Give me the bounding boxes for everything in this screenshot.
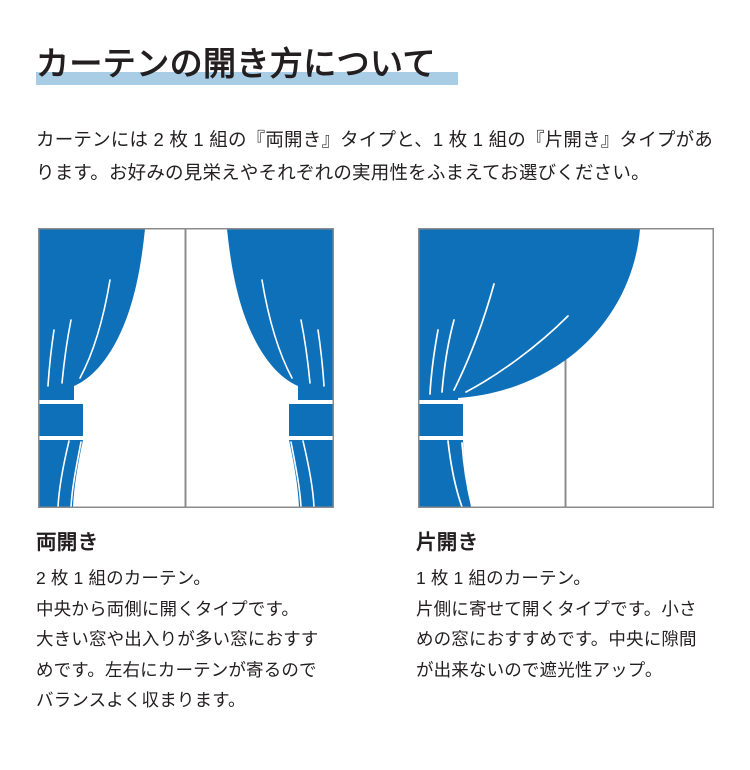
caption-line: 片側に寄せて開くタイプです。小さ xyxy=(416,594,736,625)
caption-line: が出来ないので遮光性アップ。 xyxy=(416,655,736,686)
curtain-opening-types-page: カーテンの開き方について カーテンには 2 枚 1 組の『両開き』タイプと、1 … xyxy=(0,0,750,770)
caption-heading-single-open: 片開き xyxy=(416,528,736,558)
caption-double-open: 両開き 2 枚 1 組のカーテン。 中央から両側に開くタイプです。 大きい窓や出… xyxy=(36,528,356,716)
single-open-curtain-diagram xyxy=(418,228,714,508)
caption-line: めです。左右にカーテンが寄るので xyxy=(36,655,356,686)
caption-line: めの窓におすすめです。中央に隙間 xyxy=(416,624,736,655)
caption-line: 2 枚 1 組のカーテン。 xyxy=(36,563,356,594)
figure-double-open xyxy=(38,228,334,508)
caption-single-open: 片開き 1 枚 1 組のカーテン。 片側に寄せて開くタイプです。小さ めの窓にお… xyxy=(416,528,736,685)
figure-single-open xyxy=(418,228,714,508)
double-open-curtain-diagram xyxy=(38,228,334,508)
intro-paragraph: カーテンには 2 枚 1 組の『両開き』タイプと、1 枚 1 組の『片開き』タイ… xyxy=(36,123,716,189)
caption-body-double-open: 2 枚 1 組のカーテン。 中央から両側に開くタイプです。 大きい窓や出入りが多… xyxy=(36,563,356,716)
caption-line: 中央から両側に開くタイプです。 xyxy=(36,594,356,625)
page-title-text: カーテンの開き方について xyxy=(36,42,436,86)
page-title: カーテンの開き方について xyxy=(36,42,436,86)
caption-heading-double-open: 両開き xyxy=(36,528,356,558)
caption-line: バランスよく収まります。 xyxy=(36,685,356,716)
caption-line: 大きい窓や出入りが多い窓におすす xyxy=(36,624,356,655)
caption-body-single-open: 1 枚 1 組のカーテン。 片側に寄せて開くタイプです。小さ めの窓におすすめで… xyxy=(416,563,736,685)
caption-line: 1 枚 1 組のカーテン。 xyxy=(416,563,736,594)
